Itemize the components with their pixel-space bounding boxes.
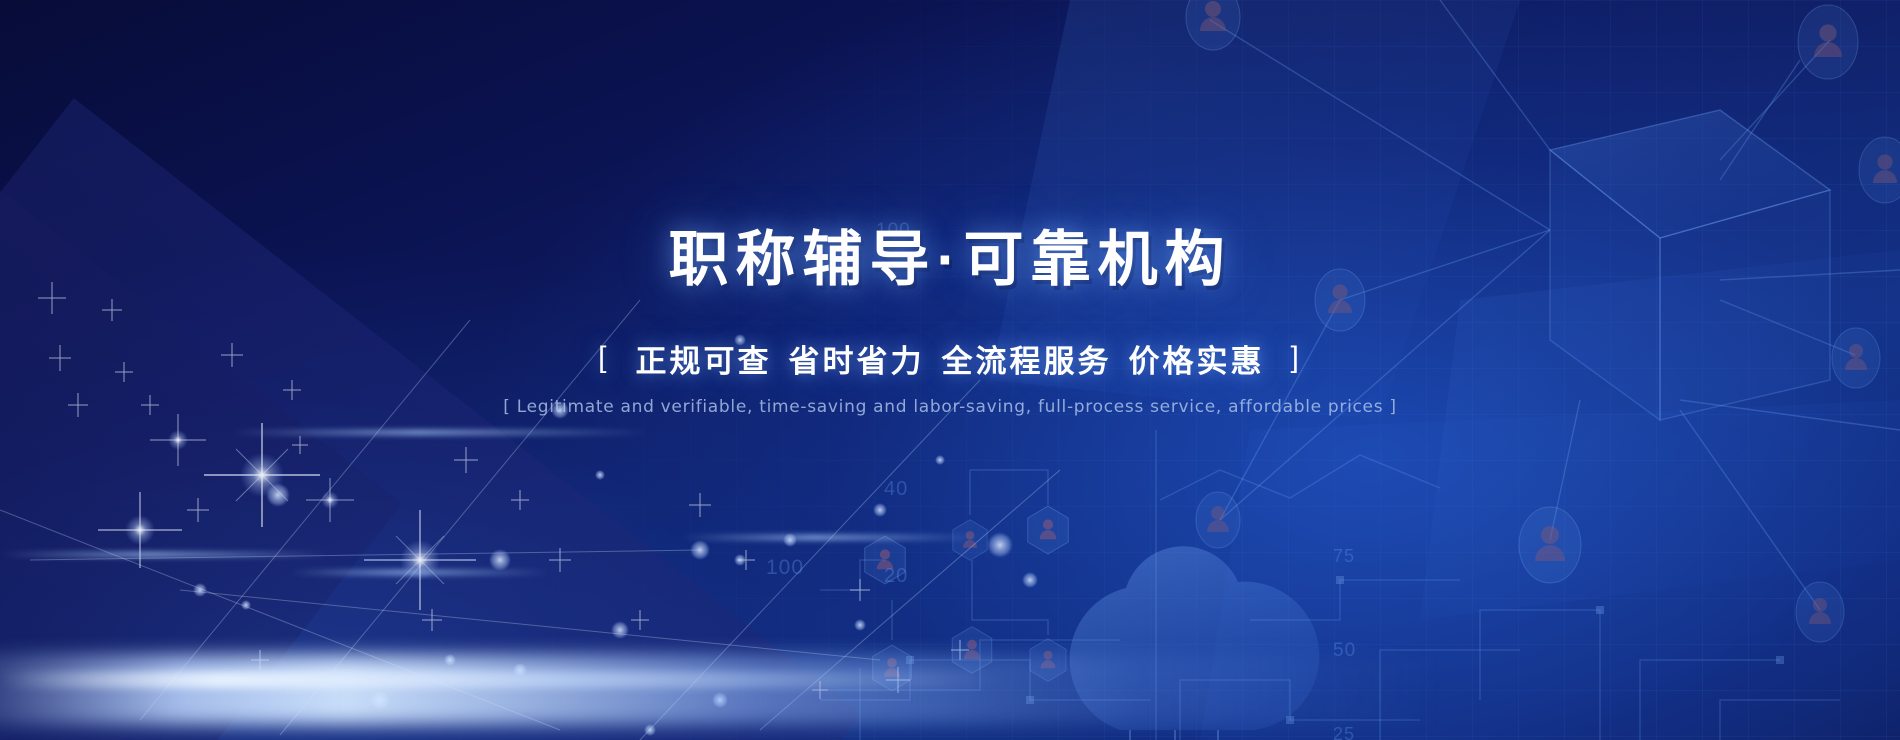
- bracket-close: ]: [1291, 341, 1302, 375]
- feature-item-2: 省时省力: [789, 336, 925, 381]
- english-tagline: [ Legitimate and verifiable, time-saving…: [503, 397, 1396, 417]
- banner-content: 职称辅导·可靠机构 [ 正规可查 省时省力 全流程服务 价格实惠 ] [ Leg…: [0, 0, 1900, 740]
- feature-list: [ 正规可查 省时省力 全流程服务 价格实惠 ]: [598, 336, 1302, 381]
- hero-banner: 100 100 40 20 75 50 25 职称辅导·可靠机构 [ 正规可查 …: [0, 0, 1900, 740]
- page-title: 职称辅导·可靠机构: [669, 228, 1232, 292]
- feature-item-3: 全流程服务: [942, 336, 1112, 381]
- bracket-open: [: [598, 341, 609, 375]
- feature-item-1: 正规可查: [636, 336, 772, 381]
- feature-item-4: 价格实惠: [1129, 336, 1265, 381]
